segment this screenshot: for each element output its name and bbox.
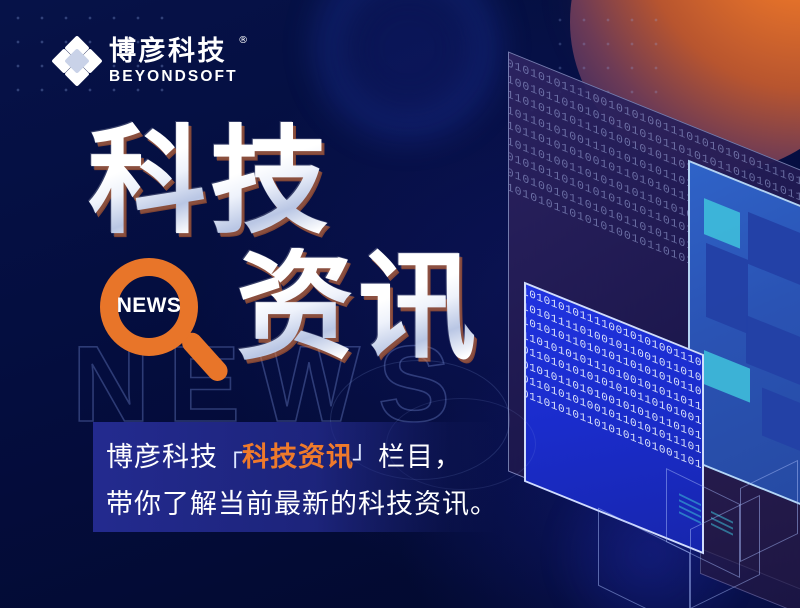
qr-block xyxy=(748,212,800,288)
registered-trademark-mark: ® xyxy=(238,36,251,46)
brand-name-cn: 博彦科技® xyxy=(109,38,238,65)
magnifier-news-icon: NEWS xyxy=(98,258,224,394)
description-highlight: 科技资讯 xyxy=(242,442,354,473)
magnifier-label: NEWS xyxy=(116,294,182,318)
box-face xyxy=(598,508,690,608)
news-poster: 1010101011110010101001110101010101111010… xyxy=(0,0,800,608)
headline-char: 科 xyxy=(88,122,206,240)
brand-logo[interactable]: 博彦科技® BEYONDSOFT xyxy=(56,38,238,85)
qr-block xyxy=(746,315,800,386)
headline-line-2: 资 讯 xyxy=(236,248,480,366)
headline-char: 技 xyxy=(210,122,328,240)
description-suffix: 栏目， xyxy=(378,442,462,473)
description-text: 博彦科技「科技资讯」栏目， 带你了解当前最新的科技资讯。 xyxy=(106,434,526,528)
headline-char: 资 xyxy=(236,248,354,366)
beyondsoft-diamond-logo-icon xyxy=(56,40,98,82)
headline-char: 讯 xyxy=(358,248,476,366)
qr-block xyxy=(704,198,740,249)
headline-line-1: 科 技 xyxy=(88,122,332,240)
bracket-right: 」 xyxy=(352,426,378,473)
brand-name-en: BEYONDSOFT xyxy=(109,69,238,85)
description-line-1: 博彦科技「科技资讯」栏目， xyxy=(106,434,526,481)
bracket-left: 「 xyxy=(218,441,244,488)
iso-server-box-2 xyxy=(598,520,778,608)
qr-block xyxy=(704,350,750,403)
qr-block xyxy=(706,243,748,334)
description-line-2: 带你了解当前最新的科技资讯。 xyxy=(106,481,526,528)
brand-logo-text: 博彦科技® BEYONDSOFT xyxy=(109,38,238,85)
qr-block xyxy=(762,388,800,457)
description-prefix: 博彦科技 xyxy=(106,442,218,473)
